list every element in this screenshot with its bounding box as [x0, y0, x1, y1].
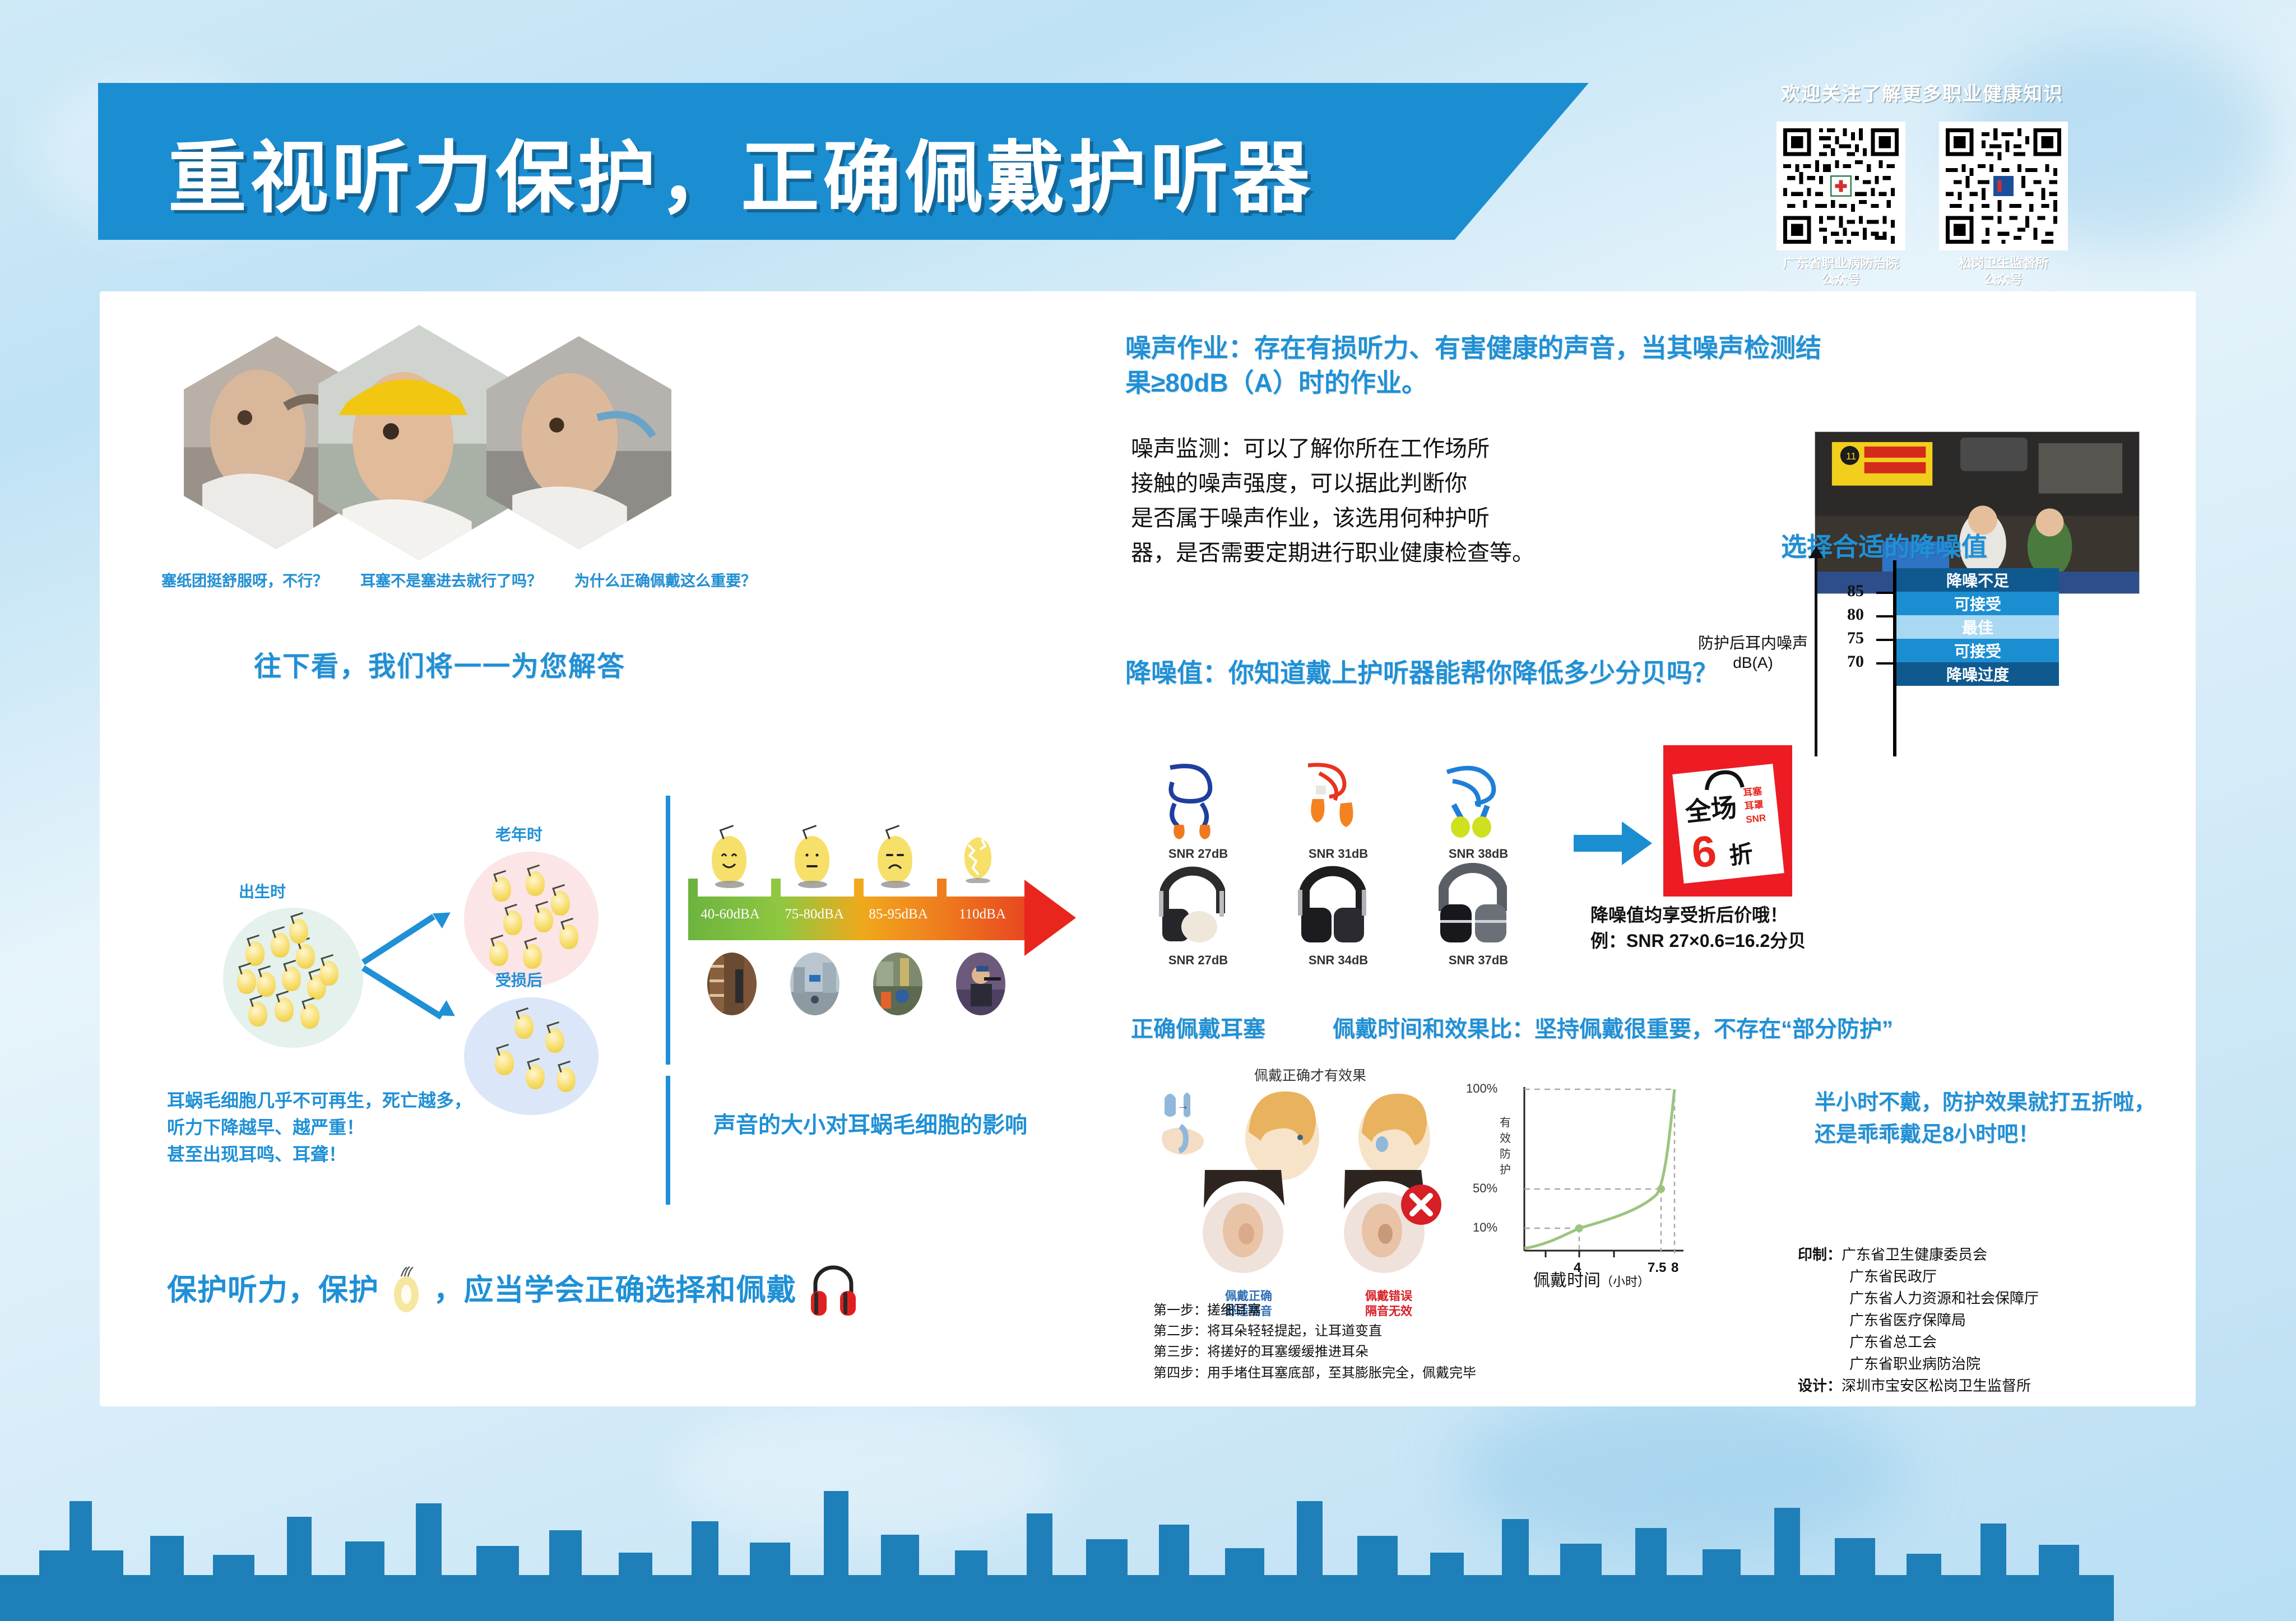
label-after-damage: 受损后 [495, 968, 542, 991]
noise-monitor-line3: 是否属于噪声作业，该选用何种护听 [1131, 501, 1848, 536]
wear-sub-label: 佩戴正确才有效果 [1254, 1065, 1366, 1085]
cells-old-age-group [464, 852, 599, 986]
time-effect-note-line2: 还是乖乖戴足8小时吧！ [1815, 1119, 2263, 1151]
noise-monitor-body: 噪声监测：可以了解你所在工作场所 接触的噪声强度，可以据此判断你 是否属于噪声作… [1131, 431, 1848, 570]
arrow-head-damaged [437, 1000, 460, 1024]
db-tick [771, 879, 781, 902]
credit-design-label: 设计： [1798, 1377, 1842, 1394]
wear-step-3: 第三步：将搓好的耳塞缓缓推进耳朵 [1153, 1341, 1658, 1362]
earmuff-white-icon [1148, 857, 1249, 947]
earmuff-grey-icon [1428, 857, 1529, 947]
chart-ylabel-c1: 有 [1500, 1116, 1511, 1129]
face-sad-icon [878, 836, 912, 883]
wear-time-effect-chart: 100% 50% 10% 有效 防护 4 7.5 8 [1462, 1070, 1809, 1289]
decibel-arrow-head [1024, 880, 1076, 956]
scale-axis-label: 防护后耳内噪声 dB(A) [1691, 633, 1815, 672]
credit-print-label: 印制： [1798, 1246, 1842, 1263]
credit-print-1: 广东省民政厅 [1798, 1266, 2039, 1288]
scene-photo-library [707, 953, 757, 1015]
page-title: 重视听力保护，正确佩戴护听器 [168, 115, 1513, 228]
chart-xlabel: 佩戴时间（小时） [1533, 1266, 1650, 1291]
emoji-face-happy [712, 836, 746, 883]
question-2: 耳塞不是塞进去就行了吗？ [360, 569, 542, 591]
qr-code-icon [1783, 128, 1899, 244]
qr-caption-line1: 松岗卫生监督所 [1939, 255, 2068, 271]
time-effect-note-line1: 半小时不戴，防护效果就打五折啦， [1815, 1087, 2263, 1119]
db-label-0: 40-60dBA [688, 907, 772, 922]
wear-step-1: 第一步：搓细耳塞 [1153, 1300, 1658, 1321]
chart-xtick-75: 7.5 [1648, 1260, 1666, 1275]
discount-note-line2: 例：SNR 27×0.6=16.2分贝 [1590, 928, 1927, 954]
earmuff-black-icon [1288, 857, 1389, 947]
scale-row: 可接受 [1896, 639, 2059, 662]
qr-caption-line2: 公众号 [1939, 271, 2068, 287]
vertical-divider-1 [666, 796, 670, 1065]
snr-selection-scale: 选择合适的降噪值 防护后耳内噪声 dB(A) 降噪不足 可接受 最佳 可接受 降… [1798, 560, 2145, 796]
discount-tag-card: 全场 6 折 耳塞 耳罩 SNR [1672, 764, 1784, 884]
svg-text:全场: 全场 [1683, 792, 1738, 826]
earmuff-glyph [805, 1264, 861, 1318]
scale-title: 选择合适的降噪值 [1781, 527, 1987, 564]
question-3: 为什么正确佩戴这么重要？ [574, 569, 756, 591]
noise-work-heading: 噪声作业：存在有损听力、有害健康的声音，当其噪声检测结 果≥80dB（A）时的作… [1125, 331, 2123, 400]
svg-text:11: 11 [1846, 450, 1857, 462]
scene-photo-shooting [956, 953, 1005, 1015]
hexagon-photo-earmuff-fit [486, 336, 671, 549]
svg-text:折: 折 [1728, 840, 1755, 869]
chart-ytick-100: 100% [1466, 1081, 1497, 1095]
earplug-item: SNR 27dB [1148, 756, 1249, 861]
wear-heading: 正确佩戴耳塞 [1131, 1014, 1265, 1044]
scene-photo-factory [873, 953, 922, 1015]
photo-factory [873, 953, 922, 1015]
label-old-age: 老年时 [495, 823, 542, 845]
cochlear-note-line1: 耳蜗毛细胞几乎不可再生，死亡越多， [167, 1087, 472, 1114]
qr-code-icon [1946, 128, 2061, 244]
arrow-to-old-age [361, 914, 435, 965]
discount-note-line1: 降噪值均享受折后价哦！ [1590, 902, 1927, 928]
main-content-card: 塞纸团挺舒服呀，不行？ 耳塞不是塞进去就行了吗？ 为什么正确佩戴这么重要？ 往下… [100, 291, 2196, 1406]
photo-shooting [956, 953, 1005, 1015]
db-tick [688, 879, 698, 902]
qr-caption: 松岗卫生监督所 公众号 [1939, 255, 2068, 287]
svg-text:耳罩: 耳罩 [1744, 799, 1764, 811]
label-at-birth: 出生时 [239, 880, 286, 902]
wear-illustration: 佩戴正确才有效果 → 佩戴正确 舒适隔音 [1153, 1065, 1467, 1300]
slogan-part2: ，应当学会正确选择和佩戴 [433, 1274, 796, 1307]
qr-section: 欢迎关注了解更多职业健康知识 [1748, 78, 2096, 287]
scale-tick-80 [1876, 615, 1896, 617]
noise-monitor-line4: 器，是否需要定期进行职业健康检查等。 [1131, 536, 1848, 570]
earmuff-item: SNR 27dB [1148, 857, 1249, 968]
question-1: 塞纸团挺舒服呀，不行？ [161, 569, 328, 591]
face-cracked-icon [961, 836, 995, 883]
discount-tag-glyph: 全场 6 折 耳塞 耳罩 SNR [1672, 764, 1784, 884]
credit-print-row: 印制：广东省卫生健康委员会 [1798, 1244, 2039, 1266]
noise-work-heading-line1: 噪声作业：存在有损听力、有害健康的声音，当其噪声检测结 [1125, 331, 2123, 365]
discount-note: 降噪值均享受折后价哦！ 例：SNR 27×0.6=16.2分贝 [1590, 902, 1927, 954]
credit-print-4: 广东省总工会 [1798, 1331, 2039, 1353]
question-row: 塞纸团挺舒服呀，不行？ 耳塞不是塞进去就行了吗？ 为什么正确佩戴这么重要？ [161, 569, 1036, 591]
credit-design-value: 深圳市宝安区松岗卫生监督所 [1842, 1377, 2031, 1394]
svg-text:SNR: SNR [1745, 812, 1766, 825]
cochlear-note-line2: 听力下降越早、越严重！ [167, 1114, 472, 1141]
qr-item[interactable]: 广东省职业病防治院 公众号 [1776, 122, 1905, 287]
city-skyline-decoration [0, 1436, 2296, 1621]
noise-work-heading-line2: 果≥80dB（A）时的作业。 [1125, 365, 2123, 400]
qr-caption-line1: 广东省职业病防治院 [1776, 255, 1905, 271]
scene-photo-street [790, 953, 839, 1015]
earmuff-icon [805, 1272, 861, 1308]
credits-block: 印制：广东省卫生健康委员会 广东省民政厅 广东省人力资源和社会保障厅 广东省医疗… [1798, 1244, 2039, 1397]
chart-ylabel-c4: 护 [1500, 1163, 1511, 1176]
scale-row-group: 降噪不足 可接受 最佳 可接受 降噪过度 [1896, 568, 2059, 686]
time-effect-heading: 佩戴时间和效果比：坚持佩戴很重要，不存在“部分防护” [1333, 1014, 1893, 1044]
earmuff-caption: SNR 37dB [1428, 953, 1529, 968]
scale-number-80: 80 [1847, 605, 1864, 624]
scale-row: 可接受 [1896, 592, 2059, 615]
wear-step-4: 第四步：用手堵住耳塞底部，至其膨胀完全，佩戴完毕 [1153, 1363, 1658, 1383]
qr-item[interactable]: 松岗卫生监督所 公众号 [1939, 122, 2068, 287]
scale-tick-70 [1876, 662, 1896, 665]
qr-heading: 欢迎关注了解更多职业健康知识 [1748, 78, 2096, 106]
face-happy-icon [712, 836, 746, 883]
earplug-item: SNR 31dB [1288, 756, 1389, 861]
photo-earmuff-fit [486, 336, 671, 549]
scale-tick-85 [1876, 592, 1896, 594]
earmuff-item: SNR 37dB [1428, 857, 1529, 968]
arrow-right-glyph [1574, 818, 1652, 868]
earmuff-caption: SNR 27dB [1148, 953, 1249, 968]
chart-ylabel-c2: 效 [1500, 1132, 1511, 1145]
noise-monitor-line1: 噪声监测：可以了解你所在工作场所 [1131, 431, 1848, 466]
earmuff-caption: SNR 34dB [1288, 953, 1389, 968]
scale-row: 最佳 [1896, 615, 2059, 639]
chart-ytick-50: 50% [1473, 1181, 1497, 1195]
svg-text:耳塞: 耳塞 [1742, 785, 1763, 798]
cochlear-note-line3: 甚至出现耳鸣、耳聋！ [167, 1141, 472, 1168]
scale-vertical-axis [1815, 555, 1817, 756]
time-effect-note: 半小时不戴，防护效果就打五折啦， 还是乖乖戴足8小时吧！ [1815, 1087, 2263, 1151]
scale-row: 降噪不足 [1896, 568, 2059, 592]
blue-arrow-icon [1574, 818, 1652, 871]
hexagon-photo-row [184, 325, 912, 572]
db-tick [854, 879, 864, 902]
vertical-divider-2 [666, 1076, 670, 1205]
decibel-scale-chart: 40-60dBA 75-80dBA 85-95dBA 110dBA [688, 812, 1092, 1037]
credit-print-3: 广东省医疗保障局 [1798, 1309, 2039, 1331]
chart-xtick-8: 8 [1671, 1260, 1678, 1275]
hair-cell-icon [388, 1273, 425, 1309]
slogan-part1: 保护听力，保护 [167, 1274, 379, 1307]
emoji-face-neutral [795, 836, 829, 883]
qr-caption: 广东省职业病防治院 公众号 [1776, 255, 1905, 287]
db-label-3: 110dBA [940, 907, 1024, 922]
cochlear-note: 耳蜗毛细胞几乎不可再生，死亡越多， 听力下降越早、越严重！ 甚至出现耳鸣、耳聋！ [167, 1087, 472, 1168]
arrow-to-damaged [361, 965, 443, 1020]
earmuff-item: SNR 34dB [1288, 857, 1389, 968]
arrow-head-old-age [433, 905, 456, 928]
wear-steps-list: 第一步：搓细耳塞 第二步：将耳朵轻轻提起，让耳道变直 第三步：将搓好的耳塞缓缓推… [1153, 1300, 1658, 1383]
scale-number-85: 85 [1847, 582, 1864, 601]
qr-code-image[interactable] [1939, 122, 2068, 250]
earplug-item: SNR 38dB [1428, 756, 1529, 861]
earplug-corded-blue-icon [1148, 756, 1249, 840]
qr-caption-line2: 公众号 [1776, 271, 1905, 287]
scale-row: 降噪过度 [1896, 662, 2059, 686]
credit-print-5: 广东省职业病防治院 [1798, 1353, 2039, 1375]
scale-number-70: 70 [1847, 652, 1864, 671]
cells-birth-group [223, 908, 363, 1048]
scale-tick-75 [1876, 639, 1896, 641]
svg-text:→: → [1177, 1098, 1189, 1112]
cochlear-cells-diagram: 出生时 老年时 受损后 [167, 812, 660, 1037]
noise-monitor-line2: 接触的噪声强度，可以据此判断你 [1131, 466, 1848, 501]
db-label-2: 85-95dBA [856, 907, 940, 922]
earplug-corded-yellow-icon [1428, 756, 1529, 840]
photo-library [707, 953, 757, 1015]
wear-steps-illustration: → [1153, 1065, 1467, 1289]
chart-ylabel-c3: 防 [1500, 1148, 1511, 1160]
qr-code-image[interactable] [1776, 122, 1905, 250]
sound-impact-note: 声音的大小对耳蜗毛细胞的影响 [713, 1107, 1027, 1139]
credit-print-0: 广东省卫生健康委员会 [1842, 1246, 1987, 1263]
emoji-face-sad [878, 836, 912, 883]
wear-time-chart-svg: 100% 50% 10% 有效 防护 4 7.5 8 [1462, 1070, 1809, 1289]
db-tick [937, 879, 947, 902]
scale-axis-arrowhead [1809, 546, 1824, 558]
photo-street [790, 953, 839, 1015]
lead-line: 往下看，我们将一一为您解答 [254, 644, 625, 684]
face-neutral-icon [795, 836, 829, 883]
db-label-1: 75-80dBA [772, 907, 856, 922]
svg-text:6: 6 [1689, 826, 1718, 877]
scale-axis-label-line1: 防护后耳内噪声 [1691, 633, 1815, 653]
wear-step-2: 第二步：将耳朵轻轻提起，让耳道变直 [1153, 1321, 1658, 1341]
hair-cell-glyph [388, 1265, 425, 1316]
scale-axis-label-line2: dB(A) [1691, 653, 1815, 672]
credit-design-row: 设计：深圳市宝安区松岗卫生监督所 [1798, 1375, 2039, 1397]
cells-damaged-group [464, 997, 599, 1115]
credit-print-2: 广东省人力资源和社会保障厅 [1798, 1288, 2039, 1309]
decibel-labels: 40-60dBA 75-80dBA 85-95dBA 110dBA [688, 907, 1024, 922]
scale-number-75: 75 [1847, 629, 1864, 648]
left-slogan: 保护听力，保护 ，应当学会正确选择和佩戴 [167, 1266, 861, 1309]
discount-tag: 全场 6 折 耳塞 耳罩 SNR [1663, 745, 1792, 897]
emoji-face-cracked [961, 836, 995, 883]
chart-ytick-10: 10% [1473, 1220, 1497, 1234]
earplug-corded-red-icon [1288, 756, 1389, 840]
